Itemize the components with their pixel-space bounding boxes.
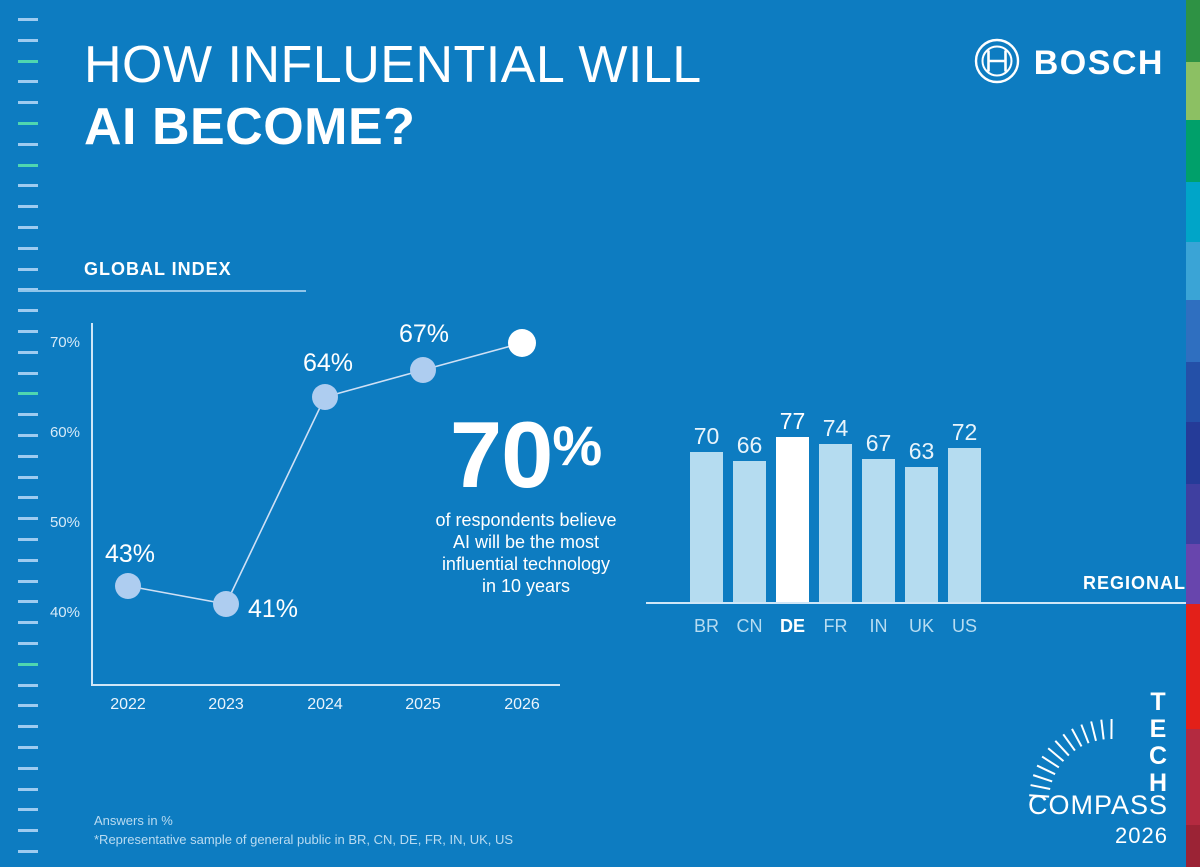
bar-column: 77DE bbox=[776, 437, 809, 602]
bar-column: 63UK bbox=[905, 467, 938, 602]
callout-percent-sign: % bbox=[552, 414, 602, 477]
bar bbox=[690, 452, 723, 602]
tc-letter-t: T bbox=[1149, 689, 1168, 716]
callout-line-2: AI will be the most bbox=[406, 531, 646, 553]
footnote-sample: *Representative sample of general public… bbox=[94, 830, 513, 849]
bar-value-label: 70 bbox=[682, 423, 731, 450]
edge-strip-segment bbox=[1186, 62, 1200, 120]
bar-value-label: 77 bbox=[768, 408, 817, 435]
bar-value-label: 72 bbox=[940, 419, 989, 446]
callout-line-3: influential technology bbox=[406, 553, 646, 575]
ruler-tick bbox=[18, 746, 38, 749]
bar-value-label: 66 bbox=[725, 432, 774, 459]
edge-strip-segment bbox=[1186, 0, 1200, 62]
line-chart-point-label: 41% bbox=[248, 595, 298, 624]
edge-strip-segment bbox=[1186, 544, 1200, 604]
tech-compass-year: 2026 bbox=[1115, 823, 1168, 849]
bar-column: 72US bbox=[948, 448, 981, 602]
bar-category-label: DE bbox=[768, 616, 817, 637]
bosch-wordmark: BOSCH bbox=[1034, 44, 1164, 83]
footnotes: Answers in % *Representative sample of g… bbox=[94, 811, 513, 849]
ruler-tick bbox=[18, 788, 38, 791]
tc-letter-c: C bbox=[1149, 743, 1168, 770]
bar-chart-baseline bbox=[646, 602, 1186, 604]
callout-line-4: in 10 years bbox=[406, 575, 646, 597]
bar bbox=[733, 461, 766, 602]
ruler-tick bbox=[18, 829, 38, 832]
bar-value-label: 63 bbox=[897, 438, 946, 465]
bar-highlight bbox=[776, 437, 809, 602]
line-chart-point-label: 67% bbox=[399, 320, 449, 349]
tech-compass-logo: T E C H COMPASS 2026 bbox=[983, 689, 1168, 849]
bar-category-label: US bbox=[940, 616, 989, 637]
ruler-tick bbox=[18, 767, 38, 770]
line-chart-point-highlight bbox=[508, 329, 536, 357]
bar-category-label: CN bbox=[725, 616, 774, 637]
bar-column: 70BR bbox=[690, 452, 723, 602]
bosch-armature-icon bbox=[974, 38, 1020, 89]
edge-strip-segment bbox=[1186, 422, 1200, 484]
ruler-tick bbox=[18, 850, 38, 853]
edge-strip-segment bbox=[1186, 362, 1200, 422]
edge-strip-segment bbox=[1186, 182, 1200, 242]
callout-number: 70% bbox=[406, 398, 646, 503]
bar-category-label: IN bbox=[854, 616, 903, 637]
bar-category-label: BR bbox=[682, 616, 731, 637]
edge-strip-segment bbox=[1186, 484, 1200, 544]
line-chart-point-label: 64% bbox=[303, 349, 353, 378]
bar-value-label: 67 bbox=[854, 430, 903, 457]
line-chart-point bbox=[115, 573, 141, 599]
line-chart-point bbox=[312, 384, 338, 410]
callout-line-1: of respondents believe bbox=[406, 509, 646, 531]
bar-column: 67IN bbox=[862, 459, 895, 602]
bar-column: 74FR bbox=[819, 444, 852, 602]
bar bbox=[862, 459, 895, 602]
bar bbox=[819, 444, 852, 602]
tech-compass-tech-word: T E C H bbox=[1149, 689, 1168, 797]
bar-category-label: UK bbox=[897, 616, 946, 637]
tech-compass-compass-word: COMPASS bbox=[1028, 790, 1168, 821]
edge-strip-segment bbox=[1186, 120, 1200, 182]
callout-block: 70% of respondents believe AI will be th… bbox=[406, 398, 646, 597]
global-index-line-chart: 70%60%50%40%2022202320242025202643%41%64… bbox=[0, 0, 620, 740]
tc-letter-e: E bbox=[1149, 716, 1168, 743]
edge-strip-segment bbox=[1186, 242, 1200, 300]
edge-strip-segment bbox=[1186, 604, 1200, 729]
infographic-poster: HOW INFLUENTIAL WILL AI BECOME? BOSCH GL… bbox=[0, 0, 1200, 867]
right-color-strip bbox=[1186, 0, 1200, 867]
bar bbox=[905, 467, 938, 602]
regional-section-label: REGIONAL bbox=[1083, 573, 1186, 594]
footnote-answers: Answers in % bbox=[94, 811, 513, 830]
line-chart-point-label: 43% bbox=[105, 540, 155, 569]
bar-value-label: 74 bbox=[811, 415, 860, 442]
line-chart-point bbox=[213, 591, 239, 617]
bosch-logo: BOSCH bbox=[974, 38, 1164, 89]
bar-category-label: FR bbox=[811, 616, 860, 637]
edge-strip-segment bbox=[1186, 729, 1200, 825]
line-chart-point bbox=[410, 357, 436, 383]
ruler-tick bbox=[18, 808, 38, 811]
bar bbox=[948, 448, 981, 602]
callout-number-value: 70 bbox=[450, 402, 553, 507]
edge-strip-segment bbox=[1186, 300, 1200, 362]
bar-column: 66CN bbox=[733, 461, 766, 602]
regional-bar-chart: REGIONAL 70BR66CN77DE74FR67IN63UK72US bbox=[646, 390, 1186, 660]
callout-description: of respondents believe AI will be the mo… bbox=[406, 509, 646, 597]
edge-strip-segment bbox=[1186, 825, 1200, 867]
